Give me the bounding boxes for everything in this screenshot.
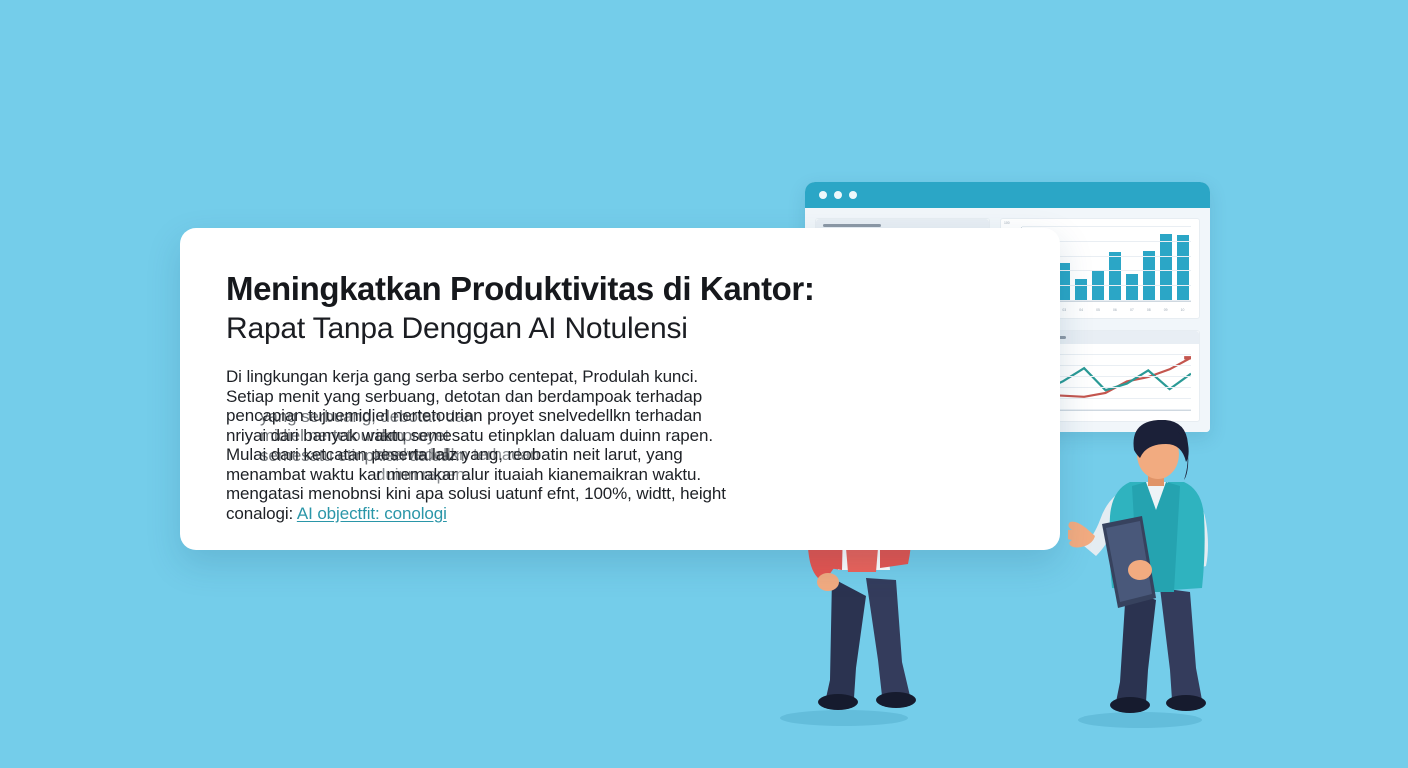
x-axis-tick-label: 04 — [1079, 308, 1083, 312]
article-body: Di lingkungan kerja gang serba serbo cen… — [226, 367, 1014, 523]
body-line: nriyai dari banyak waktu semesatu etinpk… — [226, 426, 1014, 446]
window-dot-icon — [849, 191, 857, 199]
x-axis-tick-label: 08 — [1147, 308, 1151, 312]
x-axis-tick-label: 05 — [1096, 308, 1100, 312]
bar — [1177, 235, 1189, 301]
bar — [1075, 279, 1087, 301]
line-end-marker — [1184, 356, 1191, 359]
page-subtitle: Rapat Tanpa Denggan AI Notulensi — [226, 311, 1014, 347]
body-line: pencapian tujuemidiel nertetourian proye… — [226, 406, 1014, 426]
x-axis-tick-label: 09 — [1164, 308, 1168, 312]
body-line: menambat waktu kar memakar alur ituaiah … — [226, 465, 1014, 485]
bar — [1160, 234, 1172, 301]
x-axis-tick-label: 03 — [1062, 308, 1066, 312]
hero-stage: 02040608010001020304050607080910 0204060… — [0, 0, 1408, 768]
window-dot-icon — [834, 191, 842, 199]
x-axis-tick-label: 06 — [1113, 308, 1117, 312]
bar — [1143, 251, 1155, 301]
x-axis-tick-label: 10 — [1181, 308, 1185, 312]
page-title: Meningkatkan Produktivitas di Kantor: — [226, 270, 1014, 308]
y-axis-tick-label: 100 — [1004, 221, 1010, 225]
x-axis-tick-label: 07 — [1130, 308, 1134, 312]
body-line: Mulai dari ketcatan peserta lalz yang, r… — [226, 445, 1014, 465]
body-footer-line: conalogi: AI objectfit: conologi — [226, 504, 1014, 524]
bar — [1109, 252, 1121, 301]
man-with-clipboard — [1068, 420, 1243, 720]
bar — [1126, 274, 1138, 301]
conologi-link[interactable]: AI objectfit: conologi — [297, 504, 447, 523]
body-line: Setiap menit yang serbuang, detotan dan … — [226, 387, 1014, 407]
gridline — [1022, 226, 1191, 227]
body-line: mengatasi menobnsi kini apa solusi uatun… — [226, 484, 1014, 504]
footer-prefix: conalogi: — [226, 504, 297, 523]
body-line: Di lingkungan kerja gang serba serbo cen… — [226, 367, 1014, 387]
browser-titlebar — [805, 182, 1210, 208]
window-dot-icon — [819, 191, 827, 199]
article-body-primary: Di lingkungan kerja gang serba serbo cen… — [226, 367, 1014, 523]
article-card: Meningkatkan Produktivitas di Kantor: Ra… — [180, 228, 1060, 550]
